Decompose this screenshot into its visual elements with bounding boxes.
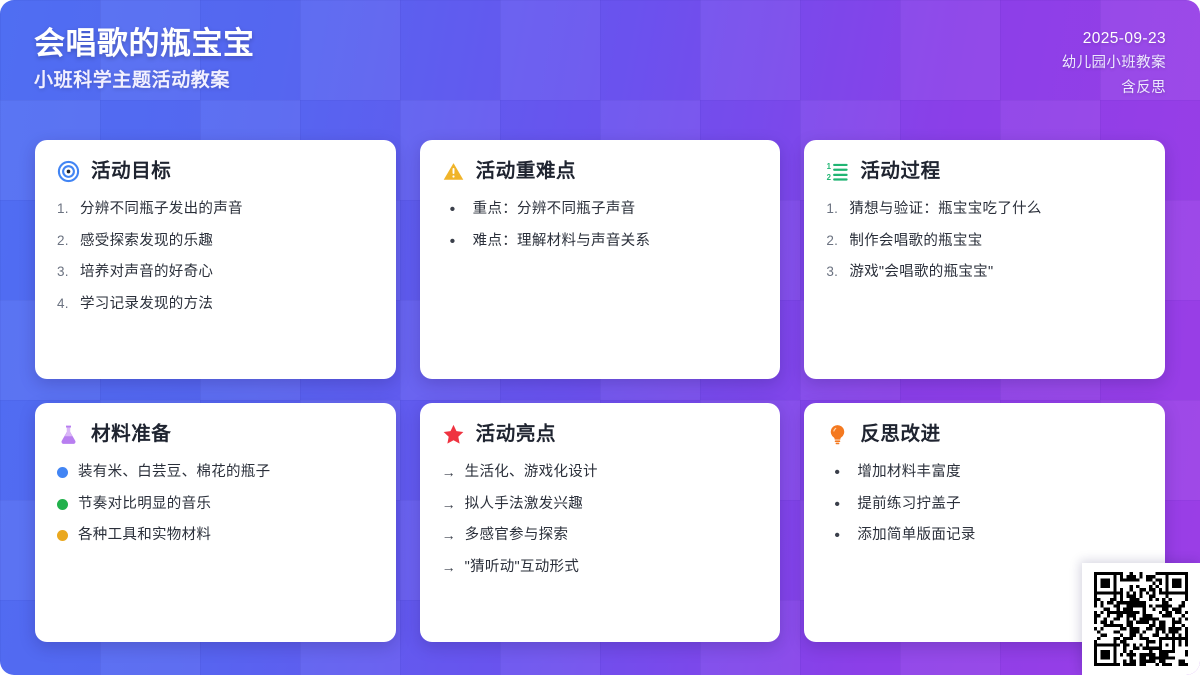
flask-icon xyxy=(57,423,80,446)
item-arrow: → xyxy=(442,463,457,482)
item-arrow: → xyxy=(442,558,457,577)
header-title-block: 会唱歌的瓶宝宝 小班科学主题活动教案 xyxy=(34,26,255,92)
item-text: 拟人手法激发兴趣 xyxy=(465,495,759,515)
list-item: •重点：分辨不同瓶子声音 xyxy=(450,200,759,220)
item-bullet: • xyxy=(834,526,849,545)
goals-list: 1.分辨不同瓶子发出的声音 2.感受探索发现的乐趣 3.培养对声音的好奇心 4.… xyxy=(57,200,374,314)
lightbulb-icon xyxy=(826,423,849,446)
card-title: 活动重难点 xyxy=(476,162,577,182)
list-item: 节奏对比明显的音乐 xyxy=(57,495,374,515)
item-text: 各种工具和实物材料 xyxy=(78,526,374,546)
item-text: 学习记录发现的方法 xyxy=(80,295,374,315)
card-grid: 活动目标 1.分辨不同瓶子发出的声音 2.感受探索发现的乐趣 3.培养对声音的好… xyxy=(35,140,1165,642)
list-item: •难点：理解材料与声音关系 xyxy=(450,232,759,252)
list-item: 1.猜想与验证：瓶宝宝吃了什么 xyxy=(826,200,1143,220)
highlights-list: →生活化、游戏化设计 →拟人手法激发兴趣 →多感官参与探索 →"猜听动"互动形式 xyxy=(442,463,759,577)
card-materials: 材料准备 装有米、白芸豆、棉花的瓶子 节奏对比明显的音乐 各种工具和实物材料 xyxy=(35,403,396,642)
item-bullet: • xyxy=(450,232,465,251)
card-header: 活动重难点 xyxy=(442,160,759,183)
item-bullet: • xyxy=(834,495,849,514)
card-title: 活动亮点 xyxy=(476,425,556,445)
card-title: 活动过程 xyxy=(860,162,940,182)
item-text: 分辨不同瓶子发出的声音 xyxy=(80,200,374,220)
warning-triangle-icon xyxy=(442,160,465,183)
poster-header: 会唱歌的瓶宝宝 小班科学主题活动教案 2025-09-23 幼儿园小班教案 含反… xyxy=(0,0,1200,120)
item-text: 培养对声音的好奇心 xyxy=(80,263,374,283)
item-text: 游戏"会唱歌的瓶宝宝" xyxy=(849,263,1143,283)
item-text: 装有米、白芸豆、棉花的瓶子 xyxy=(78,463,374,483)
item-number: 4. xyxy=(57,295,72,313)
svg-text:2: 2 xyxy=(827,173,832,182)
difficulties-list: •重点：分辨不同瓶子声音 •难点：理解材料与声音关系 xyxy=(442,200,759,251)
material-dot-blue xyxy=(57,467,68,478)
process-list: 1.猜想与验证：瓶宝宝吃了什么 2.制作会唱歌的瓶宝宝 3.游戏"会唱歌的瓶宝宝… xyxy=(826,200,1143,283)
item-number: 2. xyxy=(57,232,72,250)
svg-text:1: 1 xyxy=(827,162,832,171)
item-bullet: • xyxy=(834,463,849,482)
qr-code-container[interactable] xyxy=(1082,563,1200,675)
item-text: 制作会唱歌的瓶宝宝 xyxy=(849,232,1143,252)
card-header: 材料准备 xyxy=(57,423,374,446)
materials-list: 装有米、白芸豆、棉花的瓶子 节奏对比明显的音乐 各种工具和实物材料 xyxy=(57,463,374,546)
item-text: 难点：理解材料与声音关系 xyxy=(473,232,759,252)
star-icon xyxy=(442,423,465,446)
card-title: 活动目标 xyxy=(91,162,171,182)
item-number: 1. xyxy=(826,200,841,218)
reflection-list: •增加材料丰富度 •提前练习拧盖子 •添加简单版面记录 xyxy=(826,463,1143,546)
item-arrow: → xyxy=(442,495,457,514)
list-item: →"猜听动"互动形式 xyxy=(442,558,759,578)
item-number: 2. xyxy=(826,232,841,250)
list-item: 各种工具和实物材料 xyxy=(57,526,374,546)
item-text: 增加材料丰富度 xyxy=(857,463,1143,483)
list-item: →生活化、游戏化设计 xyxy=(442,463,759,483)
list-item: 2.制作会唱歌的瓶宝宝 xyxy=(826,232,1143,252)
list-item: 4.学习记录发现的方法 xyxy=(57,295,374,315)
list-item: 1.分辨不同瓶子发出的声音 xyxy=(57,200,374,220)
list-item: •增加材料丰富度 xyxy=(834,463,1143,483)
card-header: 活动目标 xyxy=(57,160,374,183)
material-dot-amber xyxy=(57,530,68,541)
item-text: 提前练习拧盖子 xyxy=(857,495,1143,515)
item-text: 生活化、游戏化设计 xyxy=(465,463,759,483)
list-item: 装有米、白芸豆、棉花的瓶子 xyxy=(57,463,374,483)
material-dot-green xyxy=(57,499,68,510)
item-number: 3. xyxy=(57,263,72,281)
card-header: 活动亮点 xyxy=(442,423,759,446)
item-text: 添加简单版面记录 xyxy=(857,526,1143,546)
page-title: 会唱歌的瓶宝宝 xyxy=(34,26,255,62)
list-item: •提前练习拧盖子 xyxy=(834,495,1143,515)
list-item: •添加简单版面记录 xyxy=(834,526,1143,546)
item-text: 猜想与验证：瓶宝宝吃了什么 xyxy=(849,200,1143,220)
item-text: 节奏对比明显的音乐 xyxy=(78,495,374,515)
card-activity-goals: 活动目标 1.分辨不同瓶子发出的声音 2.感受探索发现的乐趣 3.培养对声音的好… xyxy=(35,140,396,379)
item-number: 1. xyxy=(57,200,72,218)
card-header: 1 2 活动过程 xyxy=(826,160,1143,183)
item-text: 多感官参与探索 xyxy=(465,526,759,546)
item-number: 3. xyxy=(826,263,841,281)
item-text: "猜听动"互动形式 xyxy=(465,558,759,578)
item-arrow: → xyxy=(442,526,457,545)
header-category: 幼儿园小班教案 xyxy=(1062,54,1166,72)
item-text: 重点：分辨不同瓶子声音 xyxy=(473,200,759,220)
page-subtitle: 小班科学主题活动教案 xyxy=(34,70,255,93)
list-item: →多感官参与探索 xyxy=(442,526,759,546)
list-item: 2.感受探索发现的乐趣 xyxy=(57,232,374,252)
card-title: 材料准备 xyxy=(91,425,171,445)
item-text: 感受探索发现的乐趣 xyxy=(80,232,374,252)
numbered-list-icon: 1 2 xyxy=(826,160,849,183)
card-title: 反思改进 xyxy=(860,425,940,445)
header-meta-block: 2025-09-23 幼儿园小班教案 含反思 xyxy=(1062,26,1166,97)
list-item: →拟人手法激发兴趣 xyxy=(442,495,759,515)
teaching-plan-poster: 会唱歌的瓶宝宝 小班科学主题活动教案 2025-09-23 幼儿园小班教案 含反… xyxy=(0,0,1200,675)
item-bullet: • xyxy=(450,200,465,219)
card-key-difficulties: 活动重难点 •重点：分辨不同瓶子声音 •难点：理解材料与声音关系 xyxy=(420,140,781,379)
card-activity-process: 1 2 活动过程 1.猜想与验证：瓶宝宝吃了什么 2.制作会唱歌的瓶宝宝 3.游… xyxy=(804,140,1165,379)
qr-code[interactable] xyxy=(1094,572,1188,666)
list-item: 3.游戏"会唱歌的瓶宝宝" xyxy=(826,263,1143,283)
header-tag: 含反思 xyxy=(1121,79,1166,97)
list-item: 3.培养对声音的好奇心 xyxy=(57,263,374,283)
card-header: 反思改进 xyxy=(826,423,1143,446)
card-highlights: 活动亮点 →生活化、游戏化设计 →拟人手法激发兴趣 →多感官参与探索 →"猜听动… xyxy=(420,403,781,642)
target-icon xyxy=(57,160,80,183)
header-date: 2025-09-23 xyxy=(1083,29,1166,48)
